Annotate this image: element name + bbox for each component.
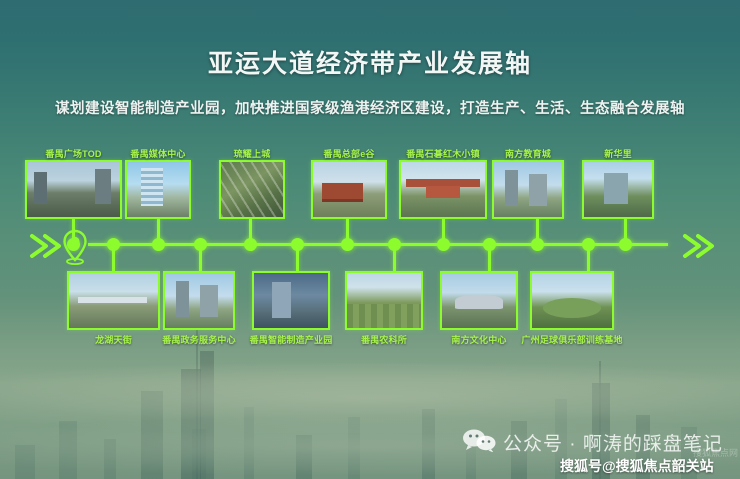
timeline-stem — [296, 243, 299, 271]
poster-canvas: 亚运大道经济带产业发展轴 谋划建设智能制造产业园，加快推进国家级渔港经济区建设，… — [0, 0, 740, 479]
thumbnail-photo — [165, 273, 233, 328]
thumbnail-top-6[interactable] — [582, 160, 654, 219]
thumbnail-photo — [27, 162, 120, 217]
thumbnail-photo — [254, 273, 328, 328]
timeline-stem — [157, 219, 160, 245]
timeline-stem — [624, 219, 627, 245]
timeline-stem — [393, 243, 396, 271]
thumbnail-photo — [127, 162, 189, 217]
timeline-stem — [72, 219, 75, 245]
thumbnail-bottom-5[interactable] — [530, 271, 614, 330]
thumbnail-photo — [69, 273, 158, 328]
thumbnail-bottom-0[interactable] — [67, 271, 160, 330]
thumbnail-top-5[interactable] — [492, 160, 564, 219]
thumbnail-photo — [442, 273, 516, 328]
wechat-watermark: 公众号 · 啊涛的踩盘笔记 — [462, 428, 723, 457]
wechat-icon — [462, 428, 496, 457]
thumbnail-bottom-3[interactable] — [345, 271, 423, 330]
thumbnail-photo — [532, 273, 612, 328]
thumbnail-photo — [401, 162, 485, 217]
thumbnail-bottom-4[interactable] — [440, 271, 518, 330]
thumbnail-top-1[interactable] — [125, 160, 191, 219]
thumbnail-photo — [347, 273, 421, 328]
wechat-watermark-text: 公众号 · 啊涛的踩盘笔记 — [503, 429, 723, 456]
thumbnail-top-2[interactable] — [219, 160, 285, 219]
thumbnail-top-3[interactable] — [311, 160, 387, 219]
double-chevron-right-icon — [679, 231, 719, 261]
thumbnail-bottom-1[interactable] — [163, 271, 235, 330]
timeline-stem — [346, 219, 349, 245]
timeline-stem — [249, 219, 252, 245]
thumbnail-top-0[interactable] — [25, 160, 122, 219]
timeline-stem — [536, 219, 539, 245]
thumbnail-photo — [584, 162, 652, 217]
timeline-stem — [442, 219, 445, 245]
thumbnail-photo — [313, 162, 385, 217]
thumbnail-caption: 广州足球俱乐部训练基地 — [512, 333, 632, 346]
timeline-stem — [112, 243, 115, 271]
page-title: 亚运大道经济带产业发展轴 — [0, 44, 740, 80]
timeline-stem — [587, 243, 590, 271]
thumbnail-top-4[interactable] — [399, 160, 487, 219]
thumbnail-bottom-2[interactable] — [252, 271, 330, 330]
timeline-stem — [488, 243, 491, 271]
thumbnail-caption: 新华里 — [558, 147, 678, 160]
page-subtitle: 谋划建设智能制造产业园，加快推进国家级渔港经济区建设，打造生产、生活、生态融合发… — [0, 97, 740, 118]
timeline-stem — [199, 243, 202, 271]
thumbnail-photo — [221, 162, 283, 217]
thumbnail-photo — [494, 162, 562, 217]
sohu-watermark-text: 搜狐号@搜狐焦点韶关站 — [560, 456, 714, 476]
